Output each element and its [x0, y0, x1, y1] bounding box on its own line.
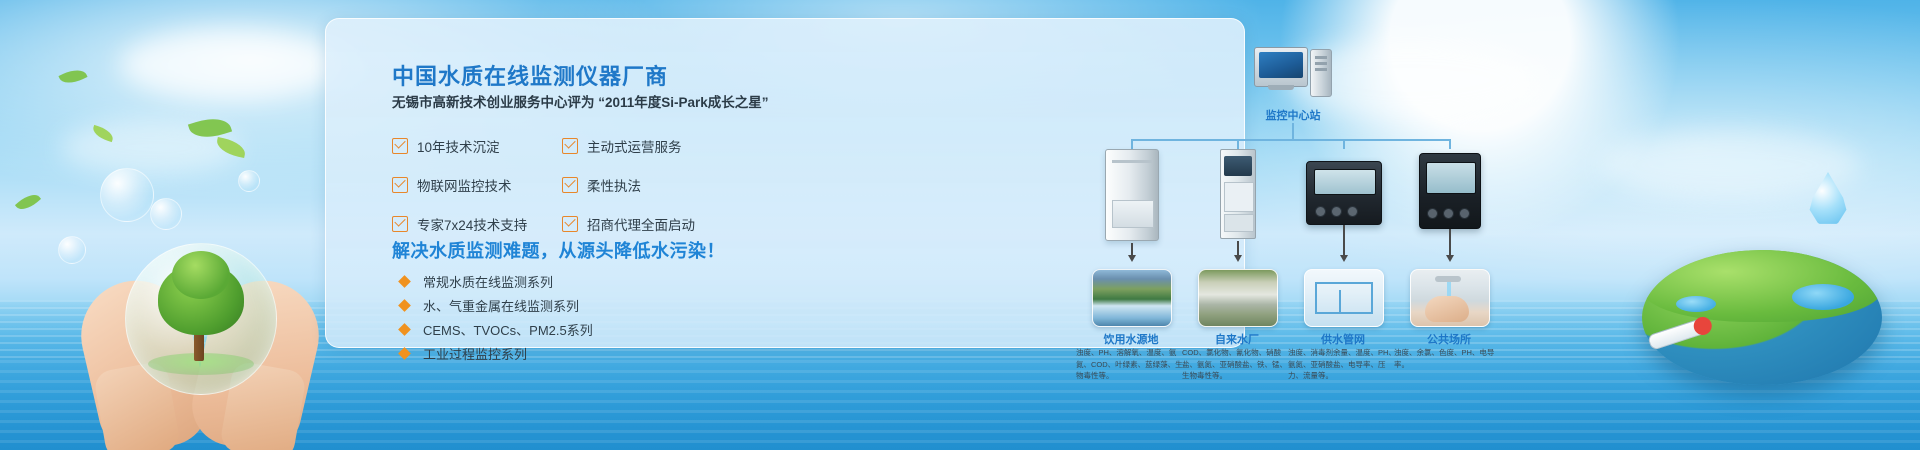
hands-holding-tree-illustration	[70, 215, 330, 450]
analyzer-button[interactable]	[1347, 206, 1358, 217]
checkbox-checked-icon	[562, 216, 578, 232]
section-title: 解决水质监测难题，从源头降低水污染！	[392, 237, 725, 263]
checklist-label: 柔性执法	[587, 175, 641, 195]
center-node-label: 监控中心站	[1245, 107, 1341, 123]
earth-grass	[1642, 250, 1882, 322]
checklist-label: 10年技术沉淀	[417, 136, 500, 156]
checklist-row: 专家7x24技术支持 招商代理全面启动	[392, 211, 712, 237]
list-item-label: 水、气重金属在线监测系列	[423, 296, 579, 315]
connector-horizontal	[1131, 139, 1449, 141]
arrow-shaft	[1449, 229, 1451, 257]
node-params: 浊度、PH、溶解氧、温度、氨氮、COD、叶绿素、蓝绿藻、生物毒性等。	[1076, 347, 1186, 382]
connector-vertical	[1343, 139, 1345, 149]
device-online-analyzer	[1306, 161, 1382, 225]
diamond-bullet-icon	[398, 299, 411, 312]
tree-crown-highlight	[172, 251, 230, 299]
rack-display-panel	[1224, 156, 1252, 176]
analyzer-screen	[1314, 169, 1376, 195]
analyzer-button[interactable]	[1331, 206, 1342, 217]
card-left-column: 中国水质在线监测仪器厂商 无锡市高新技术创业服务中心评为 “2011年度Si-P…	[326, 19, 726, 347]
feature-checklist: 10年技术沉淀 主动式运营服务 物联网监控技术 柔性执法	[392, 133, 712, 250]
analyzer-buttons[interactable]	[1315, 206, 1358, 217]
list-item-label: CEMS、TVOCs、PM2.5系列	[423, 320, 593, 339]
checklist-item-left[interactable]: 10年技术沉淀	[392, 136, 562, 156]
analyzer-button[interactable]	[1315, 206, 1326, 217]
photo-water-plant	[1198, 269, 1278, 327]
checklist-row: 10年技术沉淀 主动式运营服务	[392, 133, 712, 159]
list-item[interactable]: 工业过程监控系列	[400, 341, 593, 365]
node-params: COD、氯化物、氰化物、硝酸盐、氨氮、亚硝酸盐、铁、锰、生物毒性等。	[1182, 347, 1292, 382]
rack-bottom-panel	[1224, 214, 1254, 232]
monitoring-center-computer-icon	[1254, 47, 1332, 97]
pipe-line	[1339, 290, 1341, 314]
diamond-bullet-icon	[398, 275, 411, 288]
node-params: 浊度、消毒剂余量、温度、PH、氨氮、亚硝酸盐、电导率、压力、流量等。	[1288, 347, 1398, 382]
connector-vertical	[1292, 123, 1294, 139]
monitoring-topology-diagram: 监控中心站	[726, 19, 1244, 347]
checkbox-checked-icon	[562, 177, 578, 193]
product-series-list: 常规水质在线监测系列 水、气重金属在线监测系列 CEMS、TVOCs、PM2.5…	[400, 269, 593, 365]
checkbox-checked-icon	[392, 177, 408, 193]
pipe-line	[1371, 282, 1373, 312]
checklist-item-right[interactable]: 主动式运营服务	[562, 136, 682, 156]
arrow-down-icon	[1340, 255, 1348, 262]
hand-under-tap	[1425, 296, 1469, 322]
device-water-cabinet	[1105, 149, 1159, 241]
bubble-decor	[100, 168, 154, 222]
pipe-line	[1315, 282, 1317, 314]
cloud-decor	[120, 30, 340, 100]
earth-sphere	[1642, 250, 1882, 385]
checklist-item-right[interactable]: 招商代理全面启动	[562, 214, 695, 234]
connector-vertical	[1449, 139, 1451, 149]
rack-middle-panel	[1224, 182, 1254, 212]
checkbox-checked-icon	[392, 216, 408, 232]
device-analyzer-rack	[1220, 149, 1256, 239]
photo-water-supply-network	[1304, 269, 1384, 327]
monitor-screen	[1259, 52, 1303, 78]
pc-tower-icon	[1310, 49, 1332, 97]
checklist-label: 招商代理全面启动	[587, 214, 695, 234]
controller-button[interactable]	[1443, 208, 1454, 219]
list-item[interactable]: 常规水质在线监测系列	[400, 269, 593, 293]
content-card: 中国水质在线监测仪器厂商 无锡市高新技术创业服务中心评为 “2011年度Si-P…	[325, 18, 1245, 348]
page-title: 中国水质在线监测仪器厂商	[392, 59, 668, 91]
diamond-bullet-icon	[398, 323, 411, 336]
photo-public-place-tap	[1410, 269, 1490, 327]
monitor-stand	[1268, 85, 1294, 90]
node-title: 供水管网	[1295, 331, 1391, 347]
controller-button[interactable]	[1459, 208, 1470, 219]
page-subtitle: 无锡市高新技术创业服务中心评为 “2011年度Si-Park成长之星”	[392, 91, 769, 111]
node-params: 浊度、余氯、色度、PH、电导率。	[1394, 347, 1504, 370]
connector-vertical	[1237, 139, 1239, 149]
hero-banner: 中国水质在线监测仪器厂商 无锡市高新技术创业服务中心评为 “2011年度Si-P…	[0, 0, 1920, 450]
checklist-row: 物联网监控技术 柔性执法	[392, 172, 712, 198]
arrow-down-icon	[1446, 255, 1454, 262]
checklist-label: 主动式运营服务	[587, 136, 682, 156]
controller-buttons[interactable]	[1427, 208, 1470, 219]
monitor-icon	[1254, 47, 1308, 87]
list-item[interactable]: CEMS、TVOCs、PM2.5系列	[400, 317, 593, 341]
checklist-item-right[interactable]: 柔性执法	[562, 175, 641, 195]
node-title: 饮用水源地	[1083, 331, 1179, 347]
controller-button[interactable]	[1427, 208, 1438, 219]
checklist-label: 专家7x24技术支持	[417, 214, 527, 234]
earth-island-illustration	[1642, 230, 1882, 395]
bubble-decor	[238, 170, 260, 192]
checklist-item-left[interactable]: 物联网监控技术	[392, 175, 562, 195]
list-item-label: 常规水质在线监测系列	[423, 272, 553, 291]
earth-lake-small	[1676, 296, 1716, 312]
list-item[interactable]: 水、气重金属在线监测系列	[400, 293, 593, 317]
photo-drinking-water-source	[1092, 269, 1172, 327]
checklist-label: 物联网监控技术	[417, 175, 512, 195]
node-title: 公共场所	[1401, 331, 1497, 347]
device-water-controller	[1419, 153, 1481, 229]
diamond-bullet-icon	[398, 347, 411, 360]
pipe-line	[1315, 312, 1373, 314]
pipe-line	[1315, 282, 1373, 284]
arrow-shaft	[1343, 225, 1345, 257]
node-title: 自来水厂	[1189, 331, 1285, 347]
earth-lake	[1792, 284, 1854, 310]
leaf-decor	[15, 190, 41, 215]
checkbox-checked-icon	[392, 138, 408, 154]
arrow-down-icon	[1128, 255, 1136, 262]
controller-screen	[1426, 162, 1476, 194]
arrow-down-icon	[1234, 255, 1242, 262]
list-item-label: 工业过程监控系列	[423, 344, 527, 363]
checkbox-checked-icon	[562, 138, 578, 154]
leaf-decor	[58, 65, 87, 88]
connector-vertical	[1131, 139, 1133, 149]
checklist-item-left[interactable]: 专家7x24技术支持	[392, 214, 562, 234]
